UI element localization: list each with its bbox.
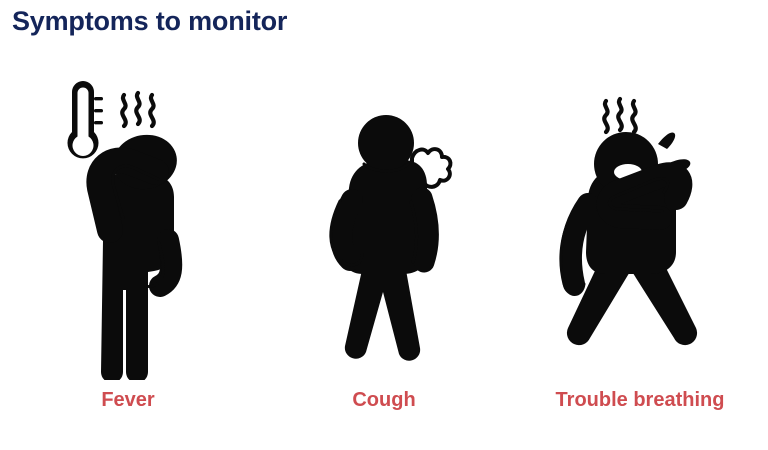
symptom-label-cough: Cough [352, 388, 415, 412]
thermometer-icon [68, 81, 104, 158]
heat-wave-lines [122, 93, 153, 126]
symptom-card-trouble-breathing[interactable]: Trouble breathing [515, 62, 765, 412]
heat-wave-lines [604, 99, 635, 132]
cough-pictogram [294, 80, 474, 380]
symptom-label-trouble-breathing: Trouble breathing [556, 388, 725, 412]
symptom-card-cough[interactable]: Cough [259, 62, 509, 412]
trouble-breathing-pictogram [540, 80, 740, 380]
symptom-card-fever[interactable]: Fever [3, 62, 253, 412]
page-title: Symptoms to monitor [12, 2, 287, 40]
fever-pictogram [38, 80, 218, 380]
symptom-list: Fever Cough [0, 62, 768, 412]
symptom-label-fever: Fever [101, 388, 154, 412]
